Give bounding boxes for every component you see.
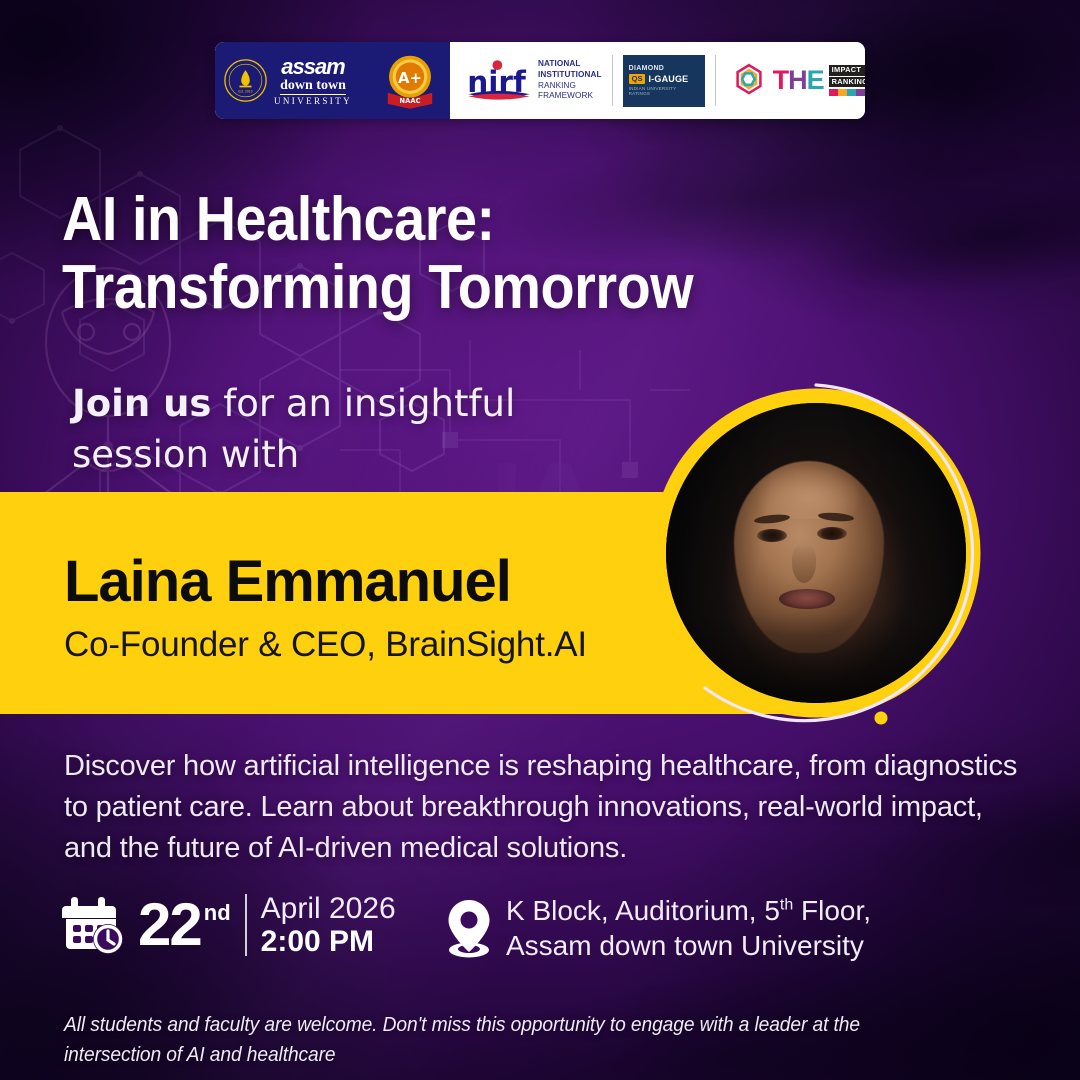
speaker-name: Laina Emmanuel — [64, 553, 511, 611]
the-letter-h: H — [788, 65, 807, 95]
igauge-tier: DIAMOND — [629, 65, 699, 72]
svg-text:A+: A+ — [398, 69, 422, 86]
adtu-downtown-text: down town — [280, 79, 346, 95]
svg-text:Est. 2010: Est. 2010 — [238, 90, 252, 94]
event-description: Discover how artificial intelligence is … — [64, 746, 1030, 870]
nirf-line-1: NATIONAL — [538, 59, 602, 70]
event-venue-item: K Block, Auditorium, 5th Floor, Assam do… — [444, 894, 871, 963]
divider — [715, 55, 716, 106]
adtu-seal-icon: Est. 2010 — [224, 59, 267, 102]
event-day-ordinal: nd — [204, 900, 231, 926]
headline-line-2: Transforming Tomorrow — [62, 254, 746, 322]
the-rank-stack: IMPACT RANKINGS 2025 — [829, 65, 865, 96]
the-color-bars — [829, 89, 865, 96]
nirf-line-2: INSTITUTIONAL — [538, 70, 602, 81]
nirf-line-3: RANKING — [538, 81, 602, 92]
invite-strong: Join us — [72, 382, 211, 425]
naac-badge-icon: A+ NAAC — [379, 52, 441, 110]
the-wordmark: THE — [773, 67, 824, 94]
event-day: 22 — [138, 895, 201, 955]
accreditation-strip: Est. 2010 assam down town UNIVERSITY A+ … — [215, 42, 865, 119]
adtu-university-text: UNIVERSITY — [274, 97, 352, 106]
the-letter-e: E — [807, 65, 824, 95]
invite-line: Join us for an insightful session with — [72, 378, 652, 480]
venue-line-1: K Block, Auditorium, 5th Floor, — [506, 894, 871, 929]
venue-floor-ordinal: th — [780, 897, 793, 914]
calendar-clock-icon — [62, 893, 126, 957]
nirf-wordmark-icon: nirf — [466, 58, 532, 104]
the-rank-line-2: RANKINGS 2025 — [829, 77, 865, 88]
igauge-sub: INDIAN UNIVERSITY RATINGS — [629, 86, 699, 96]
venue-line-1-pre: K Block, Auditorium, 5 — [506, 895, 780, 926]
igauge-label: I-GAUGE — [648, 74, 688, 84]
university-wordmark: assam down town UNIVERSITY — [274, 56, 352, 106]
event-poster: IA Est. 2010 assam down town UNIVERSITY — [0, 0, 1080, 1080]
avatar — [651, 388, 981, 718]
event-time: 2:00 PM — [261, 925, 396, 958]
qs-badge: QS — [629, 74, 646, 84]
ranking-logos-block: nirf NATIONAL INSTITUTIONAL RANKING FRAM… — [450, 42, 865, 119]
svg-text:NAAC: NAAC — [399, 97, 420, 105]
adtu-assam-text: assam — [281, 56, 345, 78]
the-hexagon-icon — [730, 62, 768, 100]
date-divider — [245, 894, 247, 956]
the-impact-rankings-logo: THE IMPACT RANKINGS 2025 — [726, 62, 865, 100]
event-month-year: April 2026 — [261, 892, 396, 925]
qs-igauge-logo: DIAMOND QS I-GAUGE INDIAN UNIVERSITY RAT… — [623, 55, 705, 107]
venue-line-2: Assam down town University — [506, 929, 871, 964]
divider — [612, 55, 613, 106]
date-time-stack: April 2026 2:00 PM — [261, 892, 396, 958]
nirf-line-4: FRAMEWORK — [538, 91, 602, 102]
event-date-item: 22 nd April 2026 2:00 PM — [62, 892, 396, 958]
page-title: AI in Healthcare: Transforming Tomorrow — [62, 186, 746, 322]
venue-text-stack: K Block, Auditorium, 5th Floor, Assam do… — [506, 894, 871, 963]
the-letter-t: T — [773, 65, 789, 95]
event-details-row: 22 nd April 2026 2:00 PM K Block, Audito… — [62, 892, 1022, 970]
venue-line-1-post: Floor, — [793, 895, 871, 926]
the-rank-line-1: IMPACT — [829, 65, 865, 76]
speaker-role: Co-Founder & CEO, BrainSight.AI — [64, 626, 587, 665]
portrait-ring-decor — [641, 378, 991, 728]
igauge-row: QS I-GAUGE — [629, 74, 699, 84]
footnote: All students and faculty are welcome. Do… — [64, 1010, 957, 1070]
location-pin-icon — [444, 898, 494, 960]
headline-line-1: AI in Healthcare: — [62, 185, 495, 254]
nirf-logo: nirf NATIONAL INSTITUTIONAL RANKING FRAM… — [460, 58, 602, 104]
nirf-fullname: NATIONAL INSTITUTIONAL RANKING FRAMEWORK — [538, 59, 602, 102]
university-logo-block: Est. 2010 assam down town UNIVERSITY A+ … — [215, 42, 450, 119]
